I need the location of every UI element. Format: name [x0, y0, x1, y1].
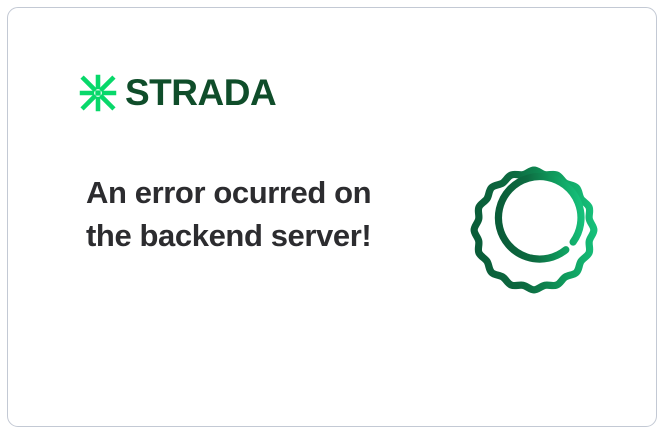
error-headline: An error ocurred on the backend server! [86, 171, 376, 257]
error-card: STRADA An error ocurred on the backend s… [7, 7, 657, 427]
strada-asterisk-icon [79, 74, 117, 112]
brand-wordmark: STRADA [125, 74, 276, 111]
brand-lockup: STRADA [79, 74, 276, 112]
